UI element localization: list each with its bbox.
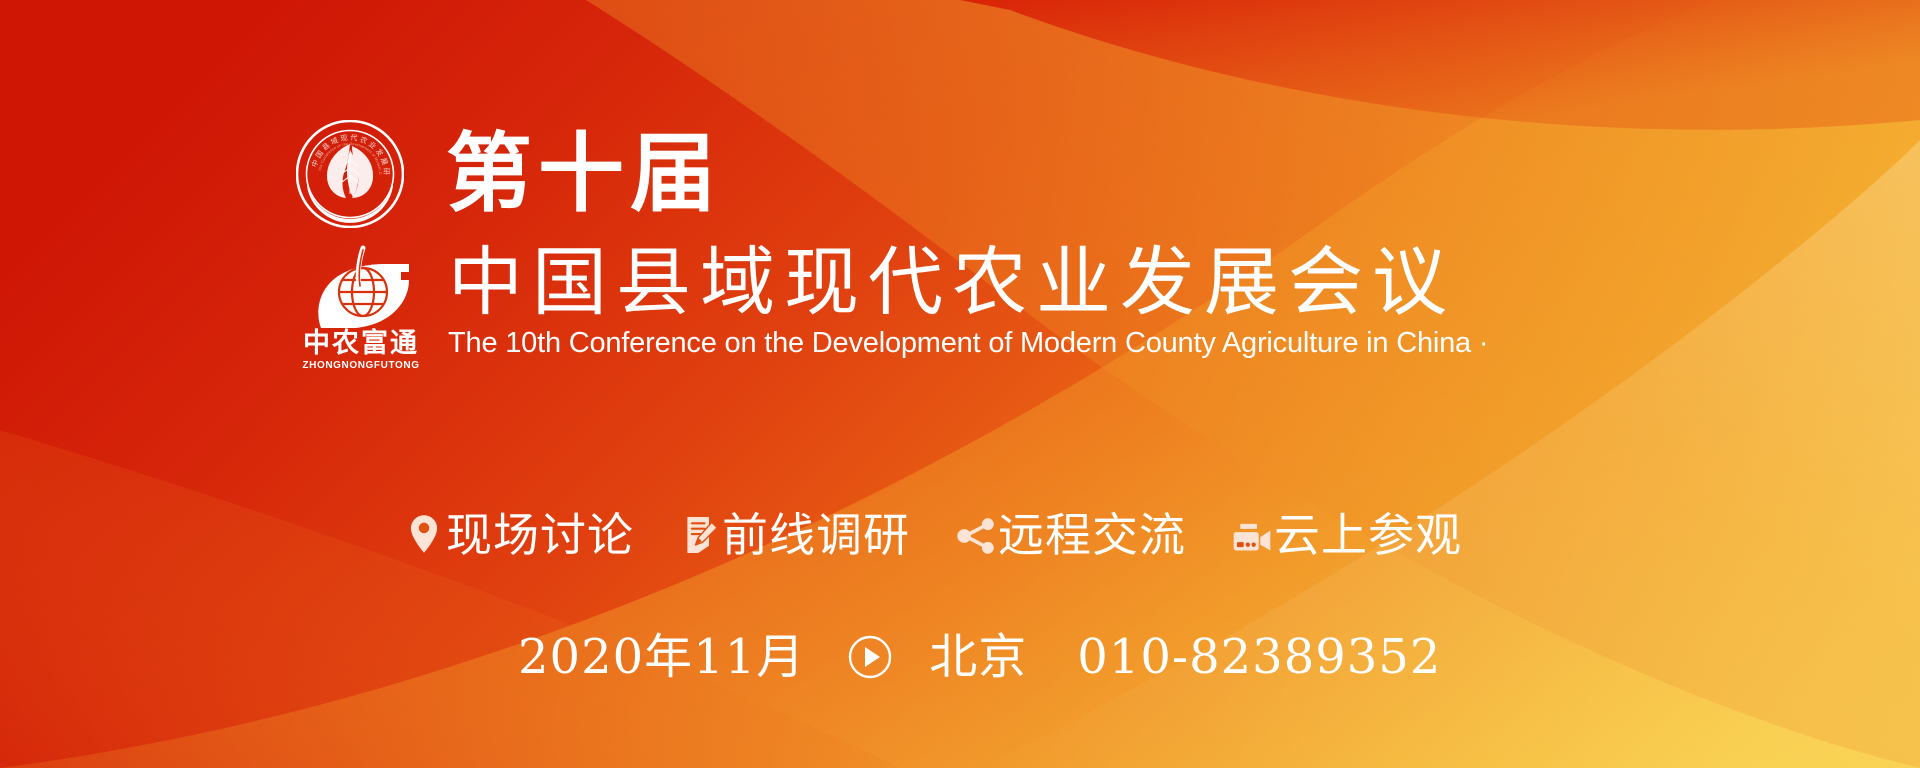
masthead-row-title: 中农富通 ZHONGNONGFUTONG 中国县域现代农业发展会议 The 10…	[296, 240, 1626, 373]
title-block: 中国县域现代农业发展会议 The 10th Conference on the …	[448, 240, 1488, 360]
feature-label: 云上参观	[1274, 508, 1462, 562]
feature-label: 前线调研	[722, 508, 910, 562]
event-date: 2020年11月	[518, 628, 805, 686]
share-nodes-icon	[956, 509, 996, 555]
feature-label: 现场讨论	[446, 508, 634, 562]
play-circle-icon	[847, 634, 893, 680]
event-city: 北京	[929, 628, 1027, 686]
brandmark-name-pinyin: ZHONGNONGFUTONG	[302, 359, 419, 373]
zhongnongfutong-globe-logo	[305, 242, 417, 328]
feature-item-onsite-discussion: 现场讨论	[404, 508, 634, 562]
location-pin-icon	[404, 509, 444, 555]
feature-list: 现场讨论 前线调研	[404, 508, 1462, 562]
video-camera-icon	[1232, 509, 1272, 555]
feature-item-cloud-tour: 云上参观	[1232, 508, 1462, 562]
feature-item-remote-exchange: 远程交流	[956, 508, 1186, 562]
conference-banner: 中国县域现代农业发展研讨会 The Conference on the Deve…	[0, 0, 1920, 768]
contact-phone: 010-82389352	[1077, 628, 1441, 686]
zhongnongfutong-brandmark: 中农富通 ZHONGNONGFUTONG	[296, 242, 426, 373]
note-pencil-icon	[680, 509, 720, 555]
meta-row: 2020年11月 北京 010-82389352	[518, 628, 1441, 686]
feature-item-frontline-research: 前线调研	[680, 508, 910, 562]
feature-label: 远程交流	[998, 508, 1186, 562]
edition-title: 第十届	[446, 126, 722, 222]
masthead: 中国县域现代农业发展研讨会 The Conference on the Deve…	[296, 118, 1626, 373]
conference-title-cn: 中国县域现代农业发展会议	[448, 240, 1488, 324]
masthead-row-edition: 中国县域现代农业发展研讨会 The Conference on the Deve…	[296, 118, 1626, 230]
banner-content: 中国县域现代农业发展研讨会 The Conference on the Deve…	[0, 0, 1920, 768]
conference-title-en: The 10th Conference on the Development o…	[448, 326, 1488, 360]
brandmark-name-cn: 中农富通	[303, 329, 419, 359]
conference-seal-emblem: 中国县域现代农业发展研讨会 The Conference on the Deve…	[296, 120, 404, 228]
